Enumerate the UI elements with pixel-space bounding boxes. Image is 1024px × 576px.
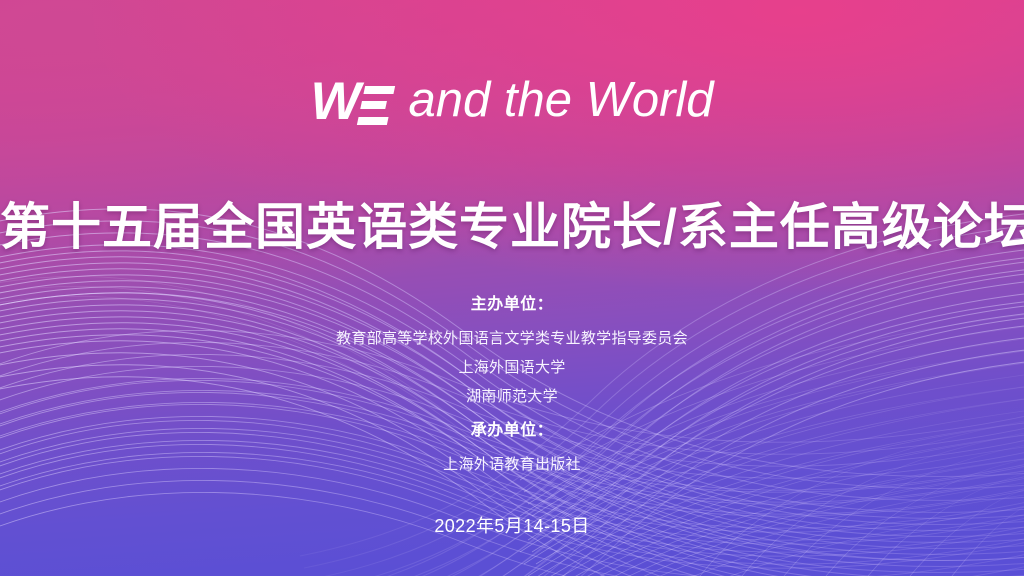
page-title: 第十五届全国英语类专业院长/系主任高级论坛 xyxy=(0,200,1024,254)
host-item: 上海外语教育出版社 xyxy=(0,453,1024,476)
organizer-item: 湖南师范大学 xyxy=(0,385,1024,408)
we-logo-icon: W xyxy=(310,75,391,128)
poster-content: W and the World 第十五届全国英语类专业院长/系主任高级论坛 主办… xyxy=(0,0,1024,576)
conference-poster: W and the World 第十五届全国英语类专业院长/系主任高级论坛 主办… xyxy=(0,0,1024,576)
organizer-item: 上海外国语大学 xyxy=(0,356,1024,379)
we-logo-letter-e xyxy=(357,86,395,125)
organizer-item: 教育部高等学校外国语言文学类专业教学指导委员会 xyxy=(0,327,1024,350)
organizers-section: 主办单位： 教育部高等学校外国语言文学类专业教学指导委员会 上海外国语大学 湖南… xyxy=(0,292,1024,414)
brand-logo: W and the World xyxy=(0,66,1024,134)
host-heading: 承办单位： xyxy=(0,418,1024,444)
organizers-heading: 主办单位： xyxy=(0,292,1024,318)
host-section: 承办单位： 上海外语教育出版社 xyxy=(0,418,1024,482)
brand-wordmark: and the World xyxy=(408,76,713,125)
event-date: 2022年5月14-15日 xyxy=(0,512,1024,538)
we-logo-letter-w: W xyxy=(310,75,359,128)
